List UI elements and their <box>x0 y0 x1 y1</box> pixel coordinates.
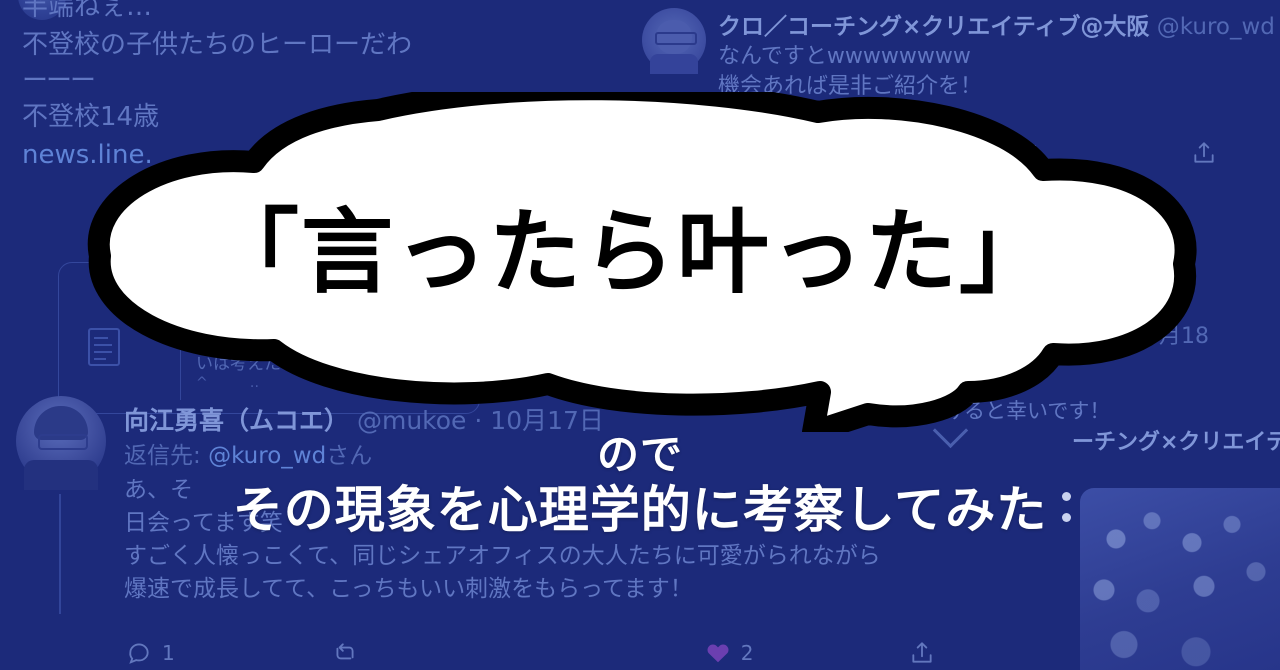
retweet-button[interactable] <box>331 640 359 666</box>
tweet-handle[interactable]: @kuro_wd <box>1157 14 1275 40</box>
share-button[interactable] <box>909 640 935 666</box>
reply-icon <box>126 640 152 666</box>
speech-bubble <box>78 92 1198 432</box>
like-button[interactable]: 2 <box>705 640 754 666</box>
headline: ので その現象を心理学的に考察してみた <box>0 430 1280 540</box>
tweet-text-line: なんですとwwwwwwww <box>718 42 1280 72</box>
tweet-text-line: すごく人懐っこくて、同じシェアオフィスの大人たちに可愛がられながら <box>124 540 884 573</box>
reply-count: 1 <box>162 641 175 665</box>
tweet-text-line: 爆速で成長してて、こっちもいい刺激をもらってます！ <box>124 573 884 606</box>
tweet-text-line: 不登校の子供たちのヒーローだわ <box>22 26 642 64</box>
retweet-icon <box>331 640 359 666</box>
tweet-display-name[interactable]: クロ／コーチング×クリエイティブ@大阪 <box>718 14 1149 40</box>
heart-filled-icon <box>705 640 731 666</box>
like-count: 2 <box>741 641 754 665</box>
headline-line-2: その現象を心理学的に考察してみた <box>0 480 1280 540</box>
tweet-actions-left-bottom: 1 2 <box>126 640 935 666</box>
headline-line-1: ので <box>0 430 1280 480</box>
speech-bubble-shape <box>99 92 1186 432</box>
tweet-text-line: 半端ねぇ… <box>22 0 642 26</box>
avatar[interactable] <box>642 8 706 72</box>
share-icon <box>909 640 935 666</box>
reply-button[interactable]: 1 <box>126 640 175 666</box>
screenshot-canvas: 半端ねぇ… 不登校の子供たちのヒーローだわ ーーー 不登校14歳 news.li… <box>0 0 1280 670</box>
